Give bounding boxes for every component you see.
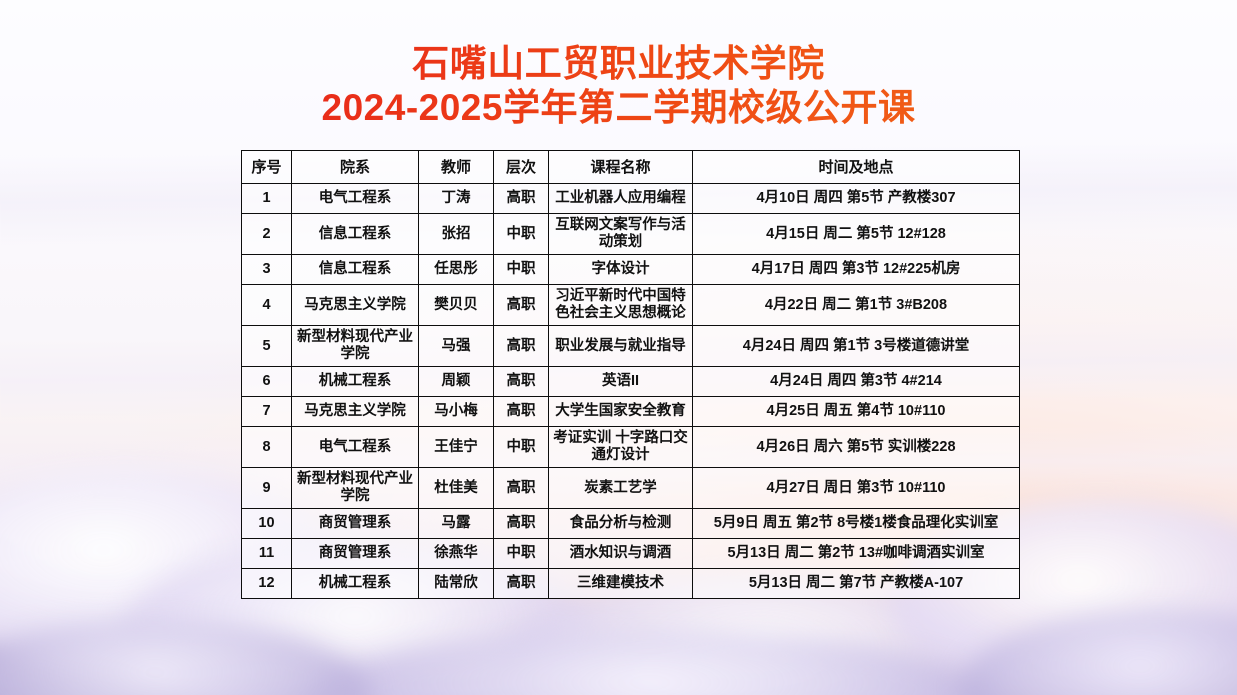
table-body: 1电气工程系丁涛高职工业机器人应用编程4月10日 周四 第5节 产教楼3072信… xyxy=(242,184,1020,599)
row-cell-dept: 商贸管理系 xyxy=(292,539,419,569)
column-header-time: 时间及地点 xyxy=(693,151,1020,184)
row-cell-level: 高职 xyxy=(494,569,549,599)
row-cell-time: 4月25日 周五 第4节 10#110 xyxy=(693,397,1020,427)
column-header-level: 层次 xyxy=(494,151,549,184)
row-cell-level: 高职 xyxy=(494,397,549,427)
row-cell-course: 英语II xyxy=(549,367,693,397)
row-cell-teacher: 丁涛 xyxy=(419,184,494,214)
row-cell-course: 工业机器人应用编程 xyxy=(549,184,693,214)
row-cell-no: 4 xyxy=(242,285,292,326)
column-header-no: 序号 xyxy=(242,151,292,184)
row-cell-time: 5月9日 周五 第2节 8号楼1楼食品理化实训室 xyxy=(693,509,1020,539)
column-header-dept: 院系 xyxy=(292,151,419,184)
row-cell-dept: 商贸管理系 xyxy=(292,509,419,539)
row-cell-time: 5月13日 周二 第2节 13#咖啡调酒实训室 xyxy=(693,539,1020,569)
row-cell-no: 1 xyxy=(242,184,292,214)
row-cell-no: 3 xyxy=(242,255,292,285)
row-cell-teacher: 马露 xyxy=(419,509,494,539)
title-line-school: 石嘴山工贸职业技术学院 xyxy=(0,42,1237,86)
row-cell-dept: 机械工程系 xyxy=(292,569,419,599)
row-cell-course: 考证实训 十字路口交通灯设计 xyxy=(549,427,693,468)
row-cell-dept: 电气工程系 xyxy=(292,184,419,214)
row-cell-no: 9 xyxy=(242,468,292,509)
row-cell-no: 5 xyxy=(242,326,292,367)
row-cell-dept: 信息工程系 xyxy=(292,214,419,255)
row-cell-course: 炭素工艺学 xyxy=(549,468,693,509)
table-row: 6机械工程系周颖高职英语II4月24日 周四 第3节 4#214 xyxy=(242,367,1020,397)
row-cell-teacher: 任思彤 xyxy=(419,255,494,285)
row-cell-level: 中职 xyxy=(494,539,549,569)
row-cell-teacher: 陆常欣 xyxy=(419,569,494,599)
row-cell-no: 7 xyxy=(242,397,292,427)
row-cell-no: 10 xyxy=(242,509,292,539)
column-header-teacher: 教师 xyxy=(419,151,494,184)
table-row: 3信息工程系任思彤中职字体设计4月17日 周四 第3节 12#225机房 xyxy=(242,255,1020,285)
row-cell-course: 字体设计 xyxy=(549,255,693,285)
table-row: 10商贸管理系马露高职食品分析与检测5月9日 周五 第2节 8号楼1楼食品理化实… xyxy=(242,509,1020,539)
table-row: 11商贸管理系徐燕华中职酒水知识与调酒5月13日 周二 第2节 13#咖啡调酒实… xyxy=(242,539,1020,569)
row-cell-course: 大学生国家安全教育 xyxy=(549,397,693,427)
table-row: 12机械工程系陆常欣高职三维建模技术5月13日 周二 第7节 产教楼A-107 xyxy=(242,569,1020,599)
row-cell-teacher: 王佳宁 xyxy=(419,427,494,468)
column-header-course: 课程名称 xyxy=(549,151,693,184)
row-cell-dept: 新型材料现代产业学院 xyxy=(292,468,419,509)
row-cell-teacher: 张招 xyxy=(419,214,494,255)
row-cell-time: 4月24日 周四 第1节 3号楼道德讲堂 xyxy=(693,326,1020,367)
row-cell-level: 高职 xyxy=(494,184,549,214)
row-cell-time: 4月15日 周二 第5节 12#128 xyxy=(693,214,1020,255)
row-cell-time: 4月26日 周六 第5节 实训楼228 xyxy=(693,427,1020,468)
table-row: 9新型材料现代产业学院杜佳美高职炭素工艺学4月27日 周日 第3节 10#110 xyxy=(242,468,1020,509)
row-cell-time: 4月10日 周四 第5节 产教楼307 xyxy=(693,184,1020,214)
row-cell-dept: 电气工程系 xyxy=(292,427,419,468)
table-row: 5新型材料现代产业学院马强高职职业发展与就业指导4月24日 周四 第1节 3号楼… xyxy=(242,326,1020,367)
row-cell-dept: 马克思主义学院 xyxy=(292,397,419,427)
row-cell-level: 高职 xyxy=(494,367,549,397)
public-class-schedule-table: 序号 院系 教师 层次 课程名称 时间及地点 1电气工程系丁涛高职工业机器人应用… xyxy=(241,150,1020,599)
row-cell-course: 酒水知识与调酒 xyxy=(549,539,693,569)
row-cell-time: 4月17日 周四 第3节 12#225机房 xyxy=(693,255,1020,285)
row-cell-time: 4月24日 周四 第3节 4#214 xyxy=(693,367,1020,397)
row-cell-teacher: 马小梅 xyxy=(419,397,494,427)
row-cell-time: 5月13日 周二 第7节 产教楼A-107 xyxy=(693,569,1020,599)
table-header: 序号 院系 教师 层次 课程名称 时间及地点 xyxy=(242,151,1020,184)
table-row: 2信息工程系张招中职互联网文案写作与活动策划4月15日 周二 第5节 12#12… xyxy=(242,214,1020,255)
row-cell-level: 中职 xyxy=(494,255,549,285)
row-cell-teacher: 樊贝贝 xyxy=(419,285,494,326)
row-cell-dept: 信息工程系 xyxy=(292,255,419,285)
table-header-row: 序号 院系 教师 层次 课程名称 时间及地点 xyxy=(242,151,1020,184)
table-row: 7马克思主义学院马小梅高职大学生国家安全教育4月25日 周五 第4节 10#11… xyxy=(242,397,1020,427)
row-cell-level: 高职 xyxy=(494,468,549,509)
row-cell-course: 互联网文案写作与活动策划 xyxy=(549,214,693,255)
title-line-term: 2024-2025学年第二学期校级公开课 xyxy=(0,86,1237,130)
row-cell-level: 高职 xyxy=(494,326,549,367)
row-cell-course: 三维建模技术 xyxy=(549,569,693,599)
row-cell-teacher: 周颖 xyxy=(419,367,494,397)
row-cell-no: 6 xyxy=(242,367,292,397)
row-cell-no: 8 xyxy=(242,427,292,468)
table-row: 4马克思主义学院樊贝贝高职习近平新时代中国特色社会主义思想概论4月22日 周二 … xyxy=(242,285,1020,326)
row-cell-course: 食品分析与检测 xyxy=(549,509,693,539)
row-cell-level: 中职 xyxy=(494,214,549,255)
row-cell-no: 11 xyxy=(242,539,292,569)
row-cell-time: 4月27日 周日 第3节 10#110 xyxy=(693,468,1020,509)
slide-content: 石嘴山工贸职业技术学院 2024-2025学年第二学期校级公开课 序号 院系 教… xyxy=(0,0,1237,695)
row-cell-dept: 机械工程系 xyxy=(292,367,419,397)
row-cell-dept: 新型材料现代产业学院 xyxy=(292,326,419,367)
row-cell-no: 2 xyxy=(242,214,292,255)
row-cell-course: 职业发展与就业指导 xyxy=(549,326,693,367)
row-cell-level: 高职 xyxy=(494,285,549,326)
row-cell-no: 12 xyxy=(242,569,292,599)
page-title: 石嘴山工贸职业技术学院 2024-2025学年第二学期校级公开课 xyxy=(0,42,1237,130)
row-cell-time: 4月22日 周二 第1节 3#B208 xyxy=(693,285,1020,326)
row-cell-level: 中职 xyxy=(494,427,549,468)
table-row: 8电气工程系王佳宁中职考证实训 十字路口交通灯设计4月26日 周六 第5节 实训… xyxy=(242,427,1020,468)
row-cell-teacher: 杜佳美 xyxy=(419,468,494,509)
row-cell-dept: 马克思主义学院 xyxy=(292,285,419,326)
table-row: 1电气工程系丁涛高职工业机器人应用编程4月10日 周四 第5节 产教楼307 xyxy=(242,184,1020,214)
row-cell-course: 习近平新时代中国特色社会主义思想概论 xyxy=(549,285,693,326)
row-cell-teacher: 徐燕华 xyxy=(419,539,494,569)
row-cell-teacher: 马强 xyxy=(419,326,494,367)
row-cell-level: 高职 xyxy=(494,509,549,539)
